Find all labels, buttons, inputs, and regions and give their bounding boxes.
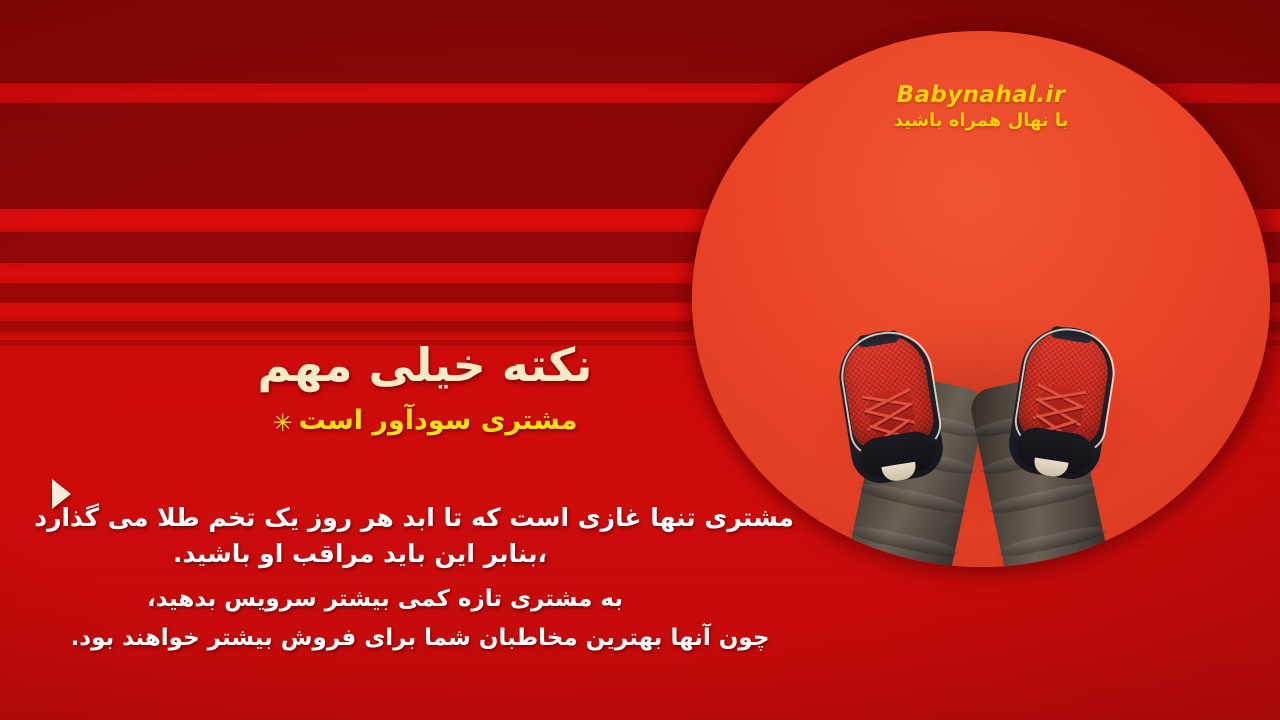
watermark-tagline: با نهال همراه باشید xyxy=(692,111,1270,131)
body-line-2: ،بنابر این باید مراقب او باشید. xyxy=(40,536,800,572)
asterisk-icon: ✳ xyxy=(273,409,293,438)
circular-photo: Babynahal.ir با نهال همراه باشید xyxy=(692,31,1270,567)
watermark: Babynahal.ir با نهال همراه باشید xyxy=(692,83,1270,131)
page-title: نکته خیلی مهم xyxy=(210,340,640,391)
subtitle: مشتری سودآور است✳ xyxy=(225,405,625,438)
left-sneaker xyxy=(831,324,949,487)
poster-canvas: Babynahal.ir با نهال همراه باشید نکته خی… xyxy=(0,0,1280,720)
right-sneaker xyxy=(1003,320,1121,483)
body-copy: مشتری تنها غازی است که تا ابد هر روز یک … xyxy=(40,500,800,654)
body-line-4: چون آنها بهترین مخاطبان شما برای فروش بی… xyxy=(40,622,800,655)
subtitle-label: مشتری سودآور است xyxy=(299,405,578,436)
watermark-site-name: Babynahal.ir xyxy=(692,83,1270,109)
body-line-1: مشتری تنها غازی است که تا ابد هر روز یک … xyxy=(40,500,800,536)
body-line-3: به مشتری تازه کمی بیشتر سرویس بدهید، xyxy=(40,583,800,616)
